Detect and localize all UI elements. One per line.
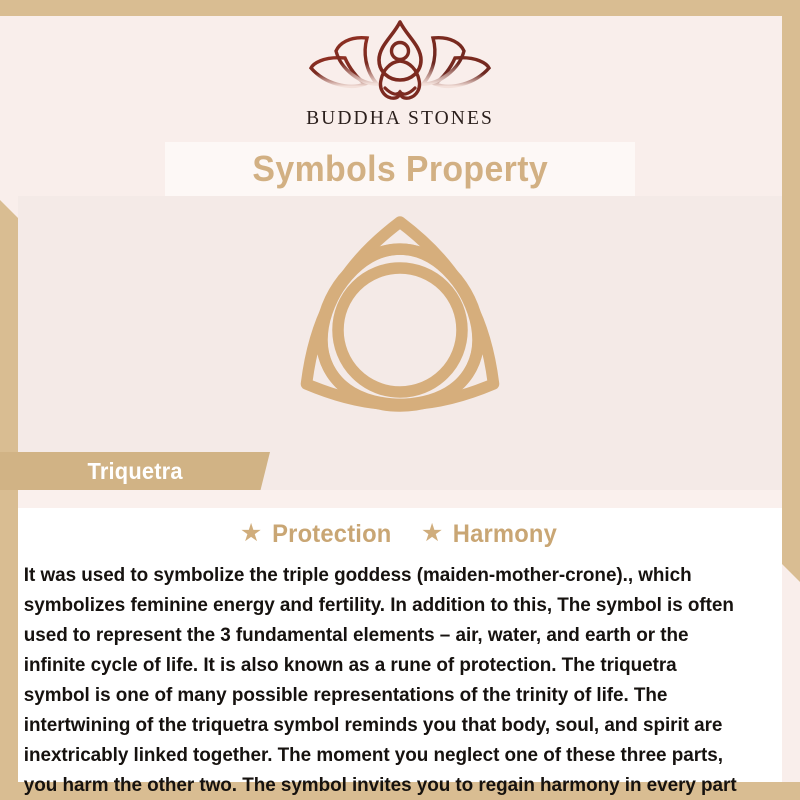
symbol-name-tag: Triquetra <box>0 452 270 490</box>
attribute-protection: ★ Protection <box>240 520 395 549</box>
attribute-label-protection: Protection <box>272 520 391 549</box>
left-border-band <box>0 200 18 800</box>
symbol-property-card: BUDDHA STONES Symbols Property Triquetra… <box>0 0 800 800</box>
attributes-row: ★ Protection ★ Harmony <box>18 508 782 556</box>
star-icon: ★ <box>421 521 443 546</box>
attribute-harmony: ★ Harmony <box>421 520 560 549</box>
title-banner: Symbols Property <box>165 142 635 196</box>
description-text: It was used to symbolize the triple godd… <box>18 556 755 800</box>
triquetra-knot-icon <box>282 206 518 442</box>
star-icon: ★ <box>240 521 262 546</box>
attribute-label-harmony: Harmony <box>453 520 557 549</box>
lotus-meditation-figure-icon <box>300 16 500 112</box>
top-border-band <box>0 0 800 16</box>
symbol-name-label: Triquetra <box>88 458 183 485</box>
description-panel: ★ Protection ★ Harmony It was used to sy… <box>18 508 782 782</box>
spacer-strip <box>18 490 782 508</box>
page-title: Symbols Property <box>252 148 548 190</box>
symbol-stage <box>18 196 782 452</box>
brand-header: BUDDHA STONES <box>0 16 800 142</box>
